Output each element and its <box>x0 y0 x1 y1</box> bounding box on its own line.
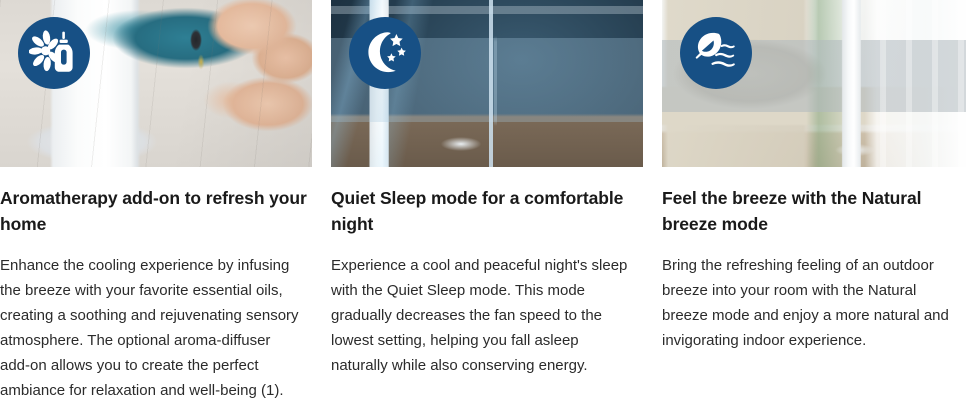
leaf-breeze-icon <box>680 17 752 89</box>
feature-card-grid: Aromatherapy add-on to refresh your home… <box>0 0 966 403</box>
card-body-text: Enhance the cooling experience by infusi… <box>0 253 312 403</box>
card-title: Quiet Sleep mode for a comfortable night <box>331 185 643 237</box>
card-body-text: Bring the refreshing feeling of an outdo… <box>662 253 966 353</box>
feature-card-quiet-sleep: Quiet Sleep mode for a comfortable night… <box>331 0 643 403</box>
card-media-aromatherapy <box>0 0 312 167</box>
card-media-natural-breeze <box>662 0 966 167</box>
card-media-quiet-sleep <box>331 0 643 167</box>
card-title: Aromatherapy add-on to refresh your home <box>0 185 312 237</box>
flower-dropper-bottle-icon <box>18 17 90 89</box>
feature-card-aromatherapy: Aromatherapy add-on to refresh your home… <box>0 0 312 403</box>
card-title: Feel the breeze with the Natural breeze … <box>662 185 966 237</box>
feature-card-natural-breeze: Feel the breeze with the Natural breeze … <box>662 0 966 403</box>
card-body-text: Experience a cool and peaceful night's s… <box>331 253 643 378</box>
moon-stars-icon <box>349 17 421 89</box>
